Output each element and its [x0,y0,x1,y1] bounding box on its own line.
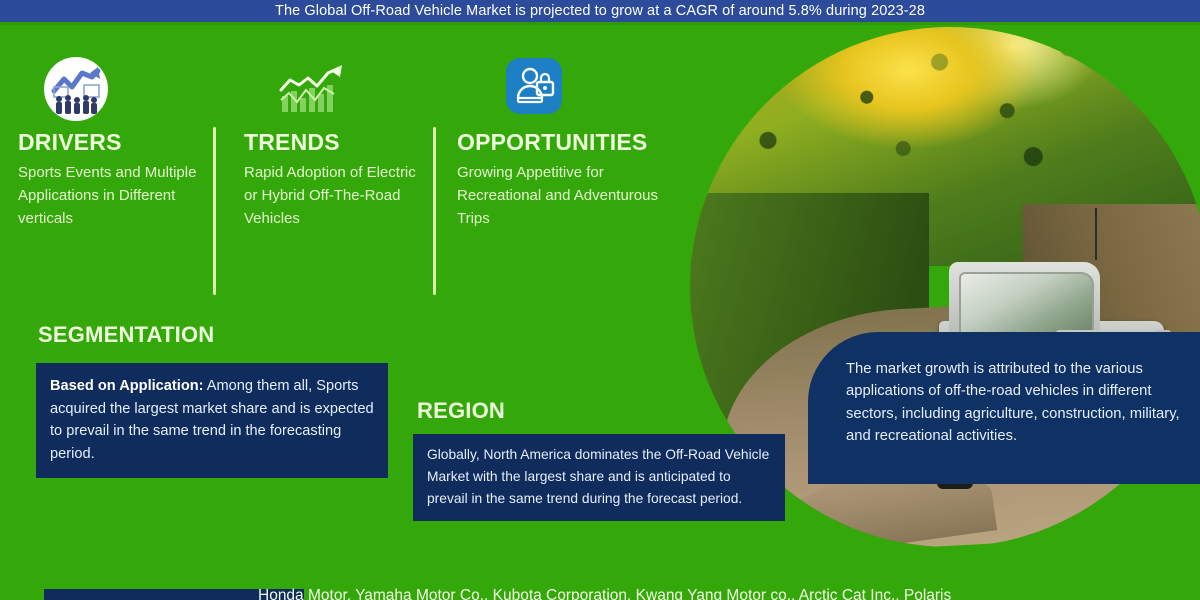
growth-note-text: The market growth is attributed to the v… [846,361,1180,444]
column-drivers: DRIVERS Sports Events and Multiple Appli… [18,131,208,230]
segmentation-heading: SEGMENTATION [38,322,214,348]
drivers-heading: DRIVERS [18,131,208,154]
segmentation-label: Based on Application: [50,378,204,394]
drivers-body: Sports Events and Multiple Applications … [18,162,208,230]
growth-people-icon [44,57,108,121]
region-text: Globally, North America dominates the Of… [427,447,769,506]
trends-heading: TRENDS [244,131,424,154]
region-box: Globally, North America dominates the Of… [413,434,785,521]
region-heading: REGION [417,398,505,424]
opportunities-heading: OPPORTUNITIES [457,131,672,154]
growth-note-box: The market growth is attributed to the v… [808,332,1200,484]
vehicle-windshield [959,272,1095,339]
column-divider-2 [433,127,436,295]
infographic-canvas: The Global Off-Road Vehicle Market is pr… [0,0,1200,600]
banner-underline [0,22,1200,25]
trend-chart-icon [276,60,346,116]
person-lock-icon [506,58,562,114]
headline-banner: The Global Off-Road Vehicle Market is pr… [0,0,1200,22]
headline-text: The Global Off-Road Vehicle Market is pr… [275,3,925,19]
column-divider-1 [213,127,216,295]
vehicle-antenna [1095,208,1097,259]
segmentation-box: Based on Application: Among them all, Sp… [36,363,388,478]
column-opportunities: OPPORTUNITIES Growing Appetitive for Rec… [457,131,672,230]
opportunities-body: Growing Appetitive for Recreational and … [457,162,672,230]
trends-body: Rapid Adoption of Electric or Hybrid Off… [244,162,424,230]
key-companies-list: Honda Motor, Yamaha Motor Co., Kubota Co… [258,586,1188,600]
column-trends: TRENDS Rapid Adoption of Electric or Hyb… [244,131,424,230]
